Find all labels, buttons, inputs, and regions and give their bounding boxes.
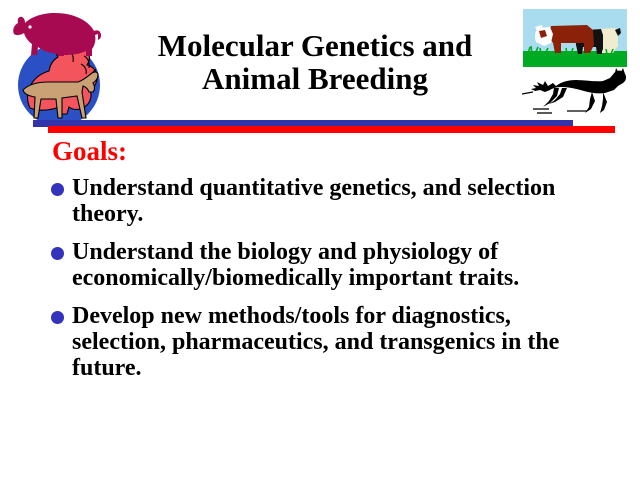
list-item-label: Understand quantitative genetics, and se… (72, 175, 590, 228)
divider-bar-red (48, 126, 615, 133)
title-line-2: Animal Breeding (120, 63, 510, 96)
cattle-on-pasture-photo (523, 9, 627, 67)
galloping-horse-silhouette (519, 68, 631, 118)
list-item: Understand quantitative genetics, and se… (50, 175, 590, 228)
list-item: Develop new methods/tools for diagnostic… (50, 303, 590, 382)
list-item-label: Understand the biology and physiology of… (72, 239, 590, 292)
slide-header: Molecular Genetics and Animal Breeding (0, 0, 640, 132)
slide-title: Molecular Genetics and Animal Breeding (120, 30, 510, 96)
bullet-icon (51, 311, 64, 324)
pig-shape (13, 13, 101, 56)
animal-science-logo (6, 4, 118, 128)
list-item: Understand the biology and physiology of… (50, 239, 590, 292)
goals-heading: Goals: (52, 138, 127, 165)
list-item-label: Develop new methods/tools for diagnostic… (72, 303, 590, 382)
goals-list: Understand quantitative genetics, and se… (50, 175, 590, 382)
bullet-icon (51, 247, 64, 260)
title-line-1: Molecular Genetics and (120, 30, 510, 63)
horse-shape (531, 68, 626, 113)
bullet-icon (51, 183, 64, 196)
presentation-slide: Molecular Genetics and Animal Breeding (0, 0, 640, 480)
